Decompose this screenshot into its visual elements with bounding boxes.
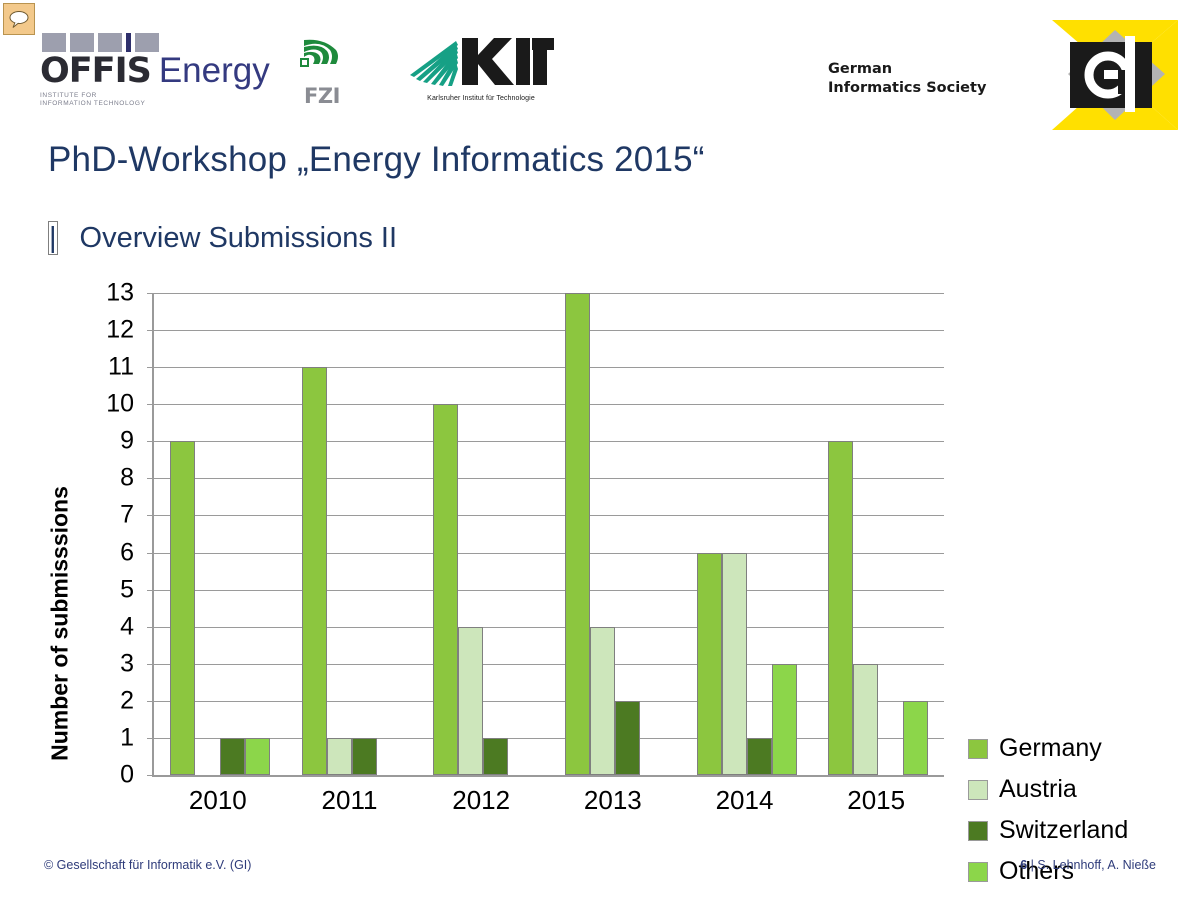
gi-society-name-line1: German	[828, 60, 1028, 79]
bar-switzerland-2012	[483, 738, 508, 775]
offis-logo-wordmark: OFFIS	[40, 54, 151, 89]
footer-page-number: 6	[1020, 858, 1027, 872]
legend-item-germany[interactable]: Germany	[968, 736, 1188, 761]
y-axis-tick	[147, 738, 154, 739]
y-axis-tick-label: 3	[120, 651, 134, 676]
offis-energy-logo: OFFIS Energy INSTITUTE FORINFORMATION TE…	[40, 33, 245, 105]
y-axis-tick-label: 11	[108, 355, 134, 380]
legend-label: Austria	[999, 777, 1077, 802]
y-axis-tick-label: 6	[120, 540, 134, 565]
slide: OFFIS Energy INSTITUTE FORINFORMATION TE…	[0, 0, 1200, 901]
footer-copyright: © Gesellschaft für Informatik e.V. (GI)	[44, 858, 251, 872]
gi-society-name-line2: Informatics Society	[828, 79, 1028, 98]
y-axis-tick-label: 8	[120, 466, 134, 491]
bar-austria-2011	[327, 738, 352, 775]
y-axis-tick	[147, 441, 154, 442]
chart-bar-groups	[154, 293, 944, 775]
x-axis-tick-label: 2015	[810, 785, 942, 816]
bar-switzerland-2010	[220, 738, 245, 775]
legend-swatch-icon	[968, 780, 988, 800]
chart-plot-area	[152, 293, 944, 777]
y-axis-tick	[147, 478, 154, 479]
y-axis-tick-label: 0	[120, 763, 134, 788]
y-axis-tick	[147, 293, 154, 294]
chart-legend: GermanyAustriaSwitzerlandOthers	[968, 736, 1188, 900]
x-axis-tick-labels: 201020112012201320142015	[152, 785, 942, 816]
y-axis-tick-labels: 012345678910111213	[86, 280, 134, 768]
footer-authors: 6 | S. Lehnhoff, A. Nieße	[1020, 858, 1156, 872]
bar-germany-2011	[302, 367, 327, 775]
fzi-logo: FZI	[294, 36, 350, 102]
kit-logo-tagline: Karlsruher Institut für Technologie	[408, 95, 554, 102]
bar-germany-2012	[433, 404, 458, 775]
y-axis-tick	[147, 367, 154, 368]
legend-swatch-icon	[968, 862, 988, 882]
bar-others-2010	[245, 738, 270, 775]
y-axis-tick	[147, 590, 154, 591]
page-subtitle: |Overview Submissions II	[48, 222, 397, 255]
footer-separator: |	[1031, 858, 1034, 872]
bar-group	[681, 293, 813, 775]
y-axis-tick	[147, 627, 154, 628]
bar-group	[549, 293, 681, 775]
y-axis-tick-label: 1	[120, 725, 134, 750]
legend-label: Germany	[999, 736, 1102, 761]
bar-group	[286, 293, 418, 775]
y-axis-tick-label: 12	[106, 318, 134, 343]
y-axis-tick	[147, 664, 154, 665]
y-axis-tick	[147, 775, 154, 776]
bar-austria-2015	[853, 664, 878, 775]
y-axis-tick-label: 4	[120, 614, 134, 639]
y-axis-tick-label: 10	[106, 392, 134, 417]
y-axis-tick	[147, 553, 154, 554]
subtitle-text: Overview Submissions II	[80, 222, 398, 254]
offis-logo-suffix: Energy	[159, 53, 270, 88]
y-axis-tick	[147, 701, 154, 702]
footer-author-names: S. Lehnhoff, A. Nieße	[1037, 858, 1156, 872]
y-axis-tick-label: 7	[120, 503, 134, 528]
y-axis-title: Number of submisssions	[47, 424, 74, 824]
kit-logo: Karlsruher Institut für Technologie	[408, 33, 554, 103]
bar-germany-2010	[170, 441, 195, 775]
y-axis-tick	[147, 404, 154, 405]
gi-mark-icon	[1030, 12, 1180, 137]
bar-germany-2014	[697, 553, 722, 775]
gi-society-name: German Informatics Society	[828, 60, 1028, 98]
subtitle-marker: |	[48, 221, 58, 255]
x-axis-tick-label: 2011	[284, 785, 416, 816]
legend-swatch-icon	[968, 821, 988, 841]
bar-austria-2014	[722, 553, 747, 775]
kit-mark-icon	[408, 33, 554, 89]
gi-logo	[1030, 12, 1180, 137]
legend-label: Switzerland	[999, 818, 1128, 843]
submissions-bar-chart: Number of submisssions 01234567891011121…	[0, 270, 1200, 830]
x-axis-tick-label: 2010	[152, 785, 284, 816]
legend-swatch-icon	[968, 739, 988, 759]
y-axis-tick-label: 13	[106, 281, 134, 306]
x-axis-tick-label: 2013	[547, 785, 679, 816]
bar-switzerland-2014	[747, 738, 772, 775]
bar-others-2014	[772, 664, 797, 775]
comment-bubble-icon[interactable]	[3, 3, 35, 35]
bar-germany-2015	[828, 441, 853, 775]
bar-others-2015	[903, 701, 928, 775]
legend-item-switzerland[interactable]: Switzerland	[968, 818, 1188, 843]
y-axis-tick-label: 5	[120, 577, 134, 602]
bar-group	[417, 293, 549, 775]
fzi-logo-wordmark: FZI	[294, 84, 350, 108]
bar-germany-2013	[565, 293, 590, 775]
y-axis-tick	[147, 330, 154, 331]
offis-bars-decoration	[42, 33, 245, 52]
x-axis-tick-label: 2012	[415, 785, 547, 816]
bar-group	[812, 293, 944, 775]
bar-switzerland-2013	[615, 701, 640, 775]
y-axis-tick-label: 2	[120, 688, 134, 713]
bar-austria-2013	[590, 627, 615, 775]
y-axis-tick	[147, 515, 154, 516]
y-axis-tick-label: 9	[120, 429, 134, 454]
bar-austria-2012	[458, 627, 483, 775]
fzi-mark-icon	[294, 36, 350, 78]
legend-item-austria[interactable]: Austria	[968, 777, 1188, 802]
x-axis-tick-label: 2014	[679, 785, 811, 816]
bar-group	[154, 293, 286, 775]
bar-switzerland-2011	[352, 738, 377, 775]
offis-logo-tagline: INSTITUTE FORINFORMATION TECHNOLOGY	[40, 92, 245, 108]
page-title: PhD-Workshop „Energy Informatics 2015“	[48, 140, 705, 180]
